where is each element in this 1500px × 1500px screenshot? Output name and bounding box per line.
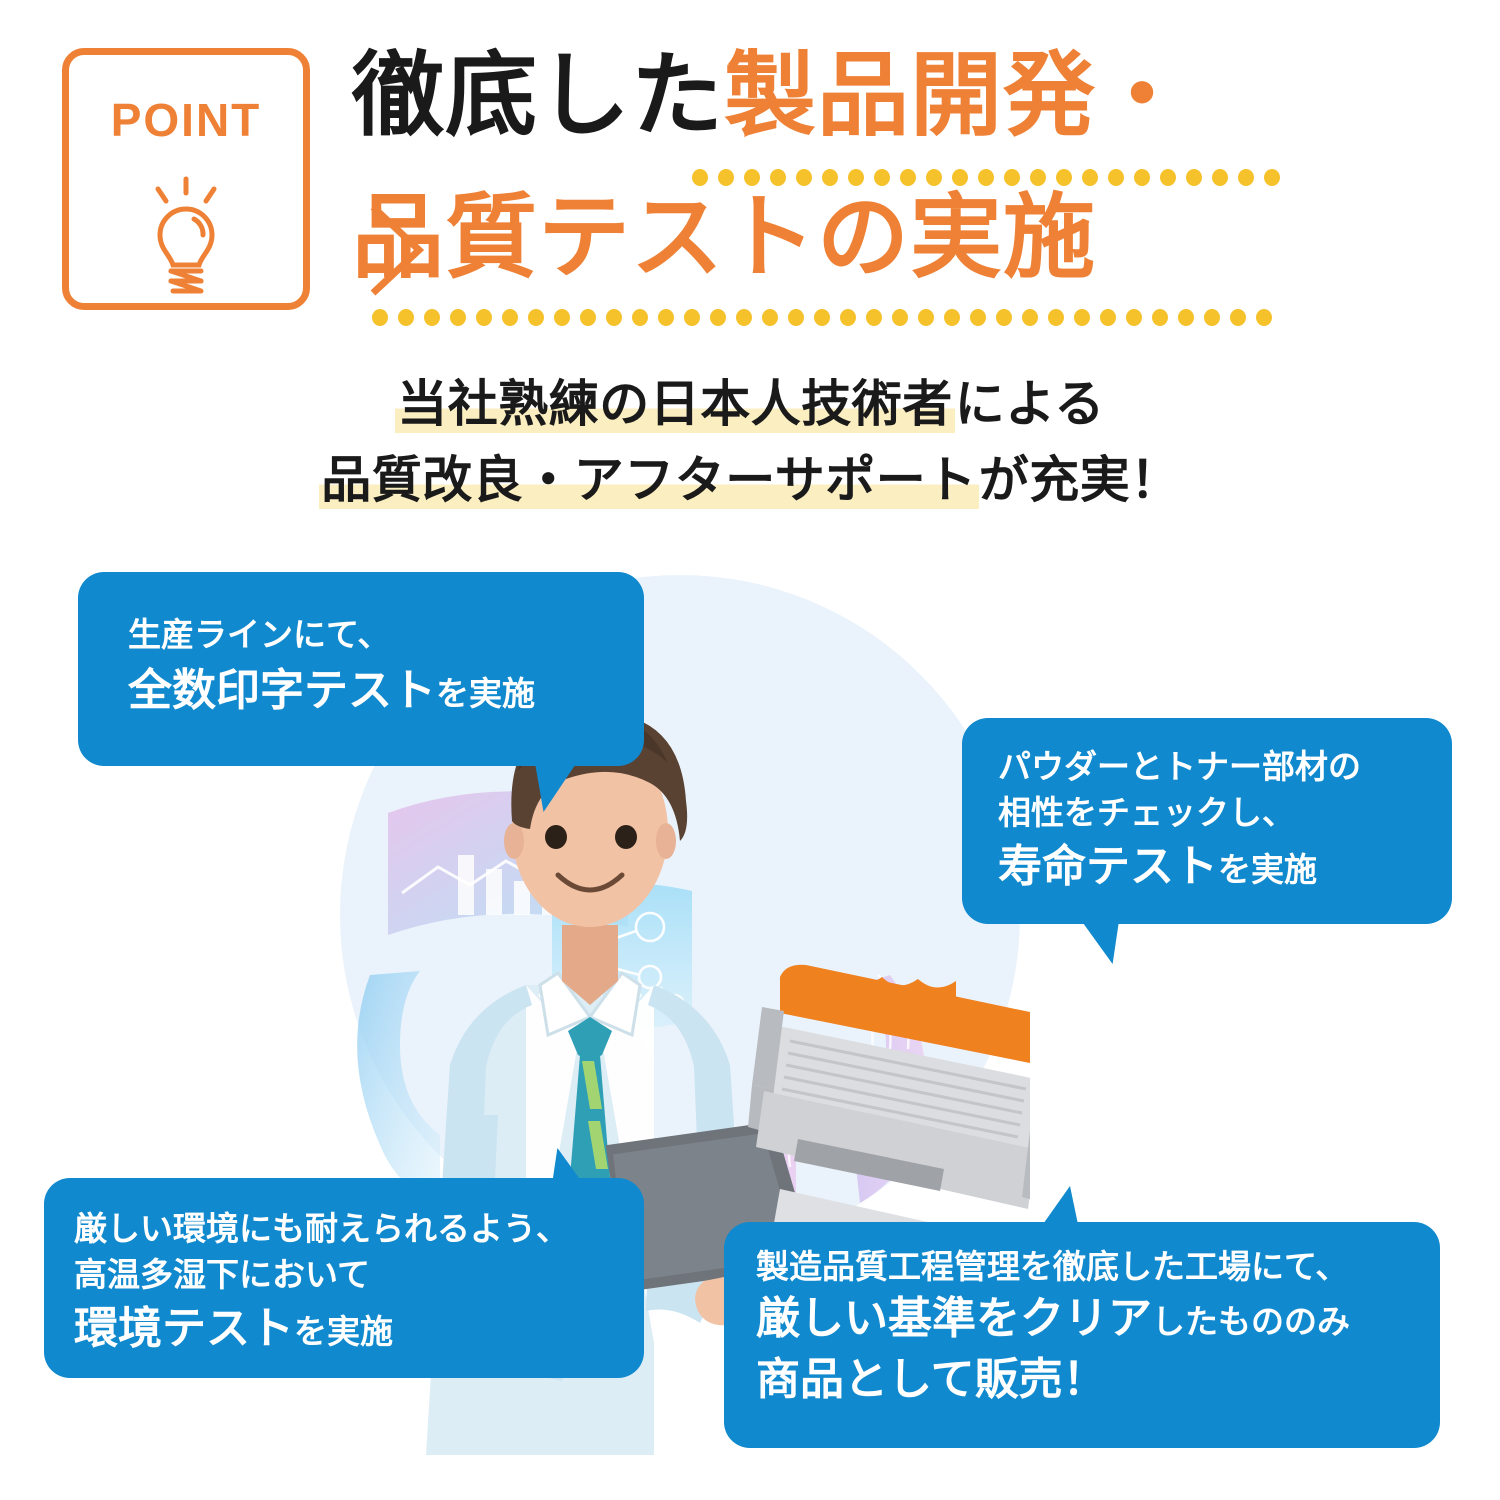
bubble3-big-text: 環境テスト: [74, 1303, 294, 1354]
subtitle-line2-highlight: 品質改良・アフターサポート: [319, 451, 979, 509]
bubble3-suffix: を実施: [294, 1312, 393, 1351]
bubble1-big-text: 全数印字テスト: [128, 665, 436, 716]
bubble2-big-text: 寿命テスト: [998, 841, 1218, 892]
headline-dotted-underline-2: [372, 308, 1272, 326]
bubble4-big-text-2: 商品として販売！: [756, 1351, 1440, 1409]
infographic-root: POINT: [0, 0, 1500, 1500]
bubble4-big-text-1: 厳しい基準をクリア: [756, 1293, 1152, 1344]
headline-dotted-underline-1: [692, 168, 1280, 186]
bubble-factory-quality: 製造品質工程管理を徹底した工場にて、 厳しい基準をクリアしたもののみ 商品として…: [724, 1222, 1440, 1448]
subtitle-line1-rest: による: [955, 375, 1105, 433]
bubble-lifespan-test: パウダーとトナー部材の 相性をチェックし、 寿命テストを実施: [962, 718, 1452, 924]
bubble2-small-line2: 相性をチェックし、: [998, 790, 1452, 836]
lightbulb-icon: [126, 173, 246, 306]
page-subtitle: 当社熟練の日本人技術者による 品質改良・アフターサポートが充実！: [0, 366, 1500, 518]
subtitle-line1-highlight: 当社熟練の日本人技術者: [395, 375, 955, 433]
point-badge: POINT: [62, 48, 310, 310]
bubble3-small-line1: 厳しい環境にも耐えられるよう、: [74, 1206, 644, 1252]
bubble-environment-test: 厳しい環境にも耐えられるよう、 高温多湿下において 環境テストを実施: [44, 1178, 644, 1378]
point-badge-label: POINT: [69, 93, 303, 147]
bubble4-small-line: 製造品質工程管理を徹底した工場にて、: [756, 1244, 1440, 1290]
page-title: 徹底した製品開発・ 品質テストの実施: [352, 44, 1352, 290]
headline-line1-orange: 製品開発・: [724, 42, 1189, 149]
bubble3-small-line2: 高温多湿下において: [74, 1252, 644, 1298]
bubble1-small-line: 生産ラインにて、: [128, 612, 644, 658]
headline-line1-black: 徹底した: [352, 42, 724, 149]
bubble4-suffix-1: したもののみ: [1152, 1302, 1350, 1341]
headline-line2-orange: 品質テストの実施: [352, 184, 1096, 291]
bubble-print-test: 生産ラインにて、 全数印字テストを実施: [78, 572, 644, 766]
bubble2-suffix: を実施: [1218, 850, 1317, 889]
bubble2-small-line1: パウダーとトナー部材の: [998, 744, 1452, 790]
bubble2-tail: [1079, 918, 1132, 964]
subtitle-line2-rest: が充実！: [979, 451, 1181, 509]
bubble1-suffix: を実施: [436, 674, 535, 713]
